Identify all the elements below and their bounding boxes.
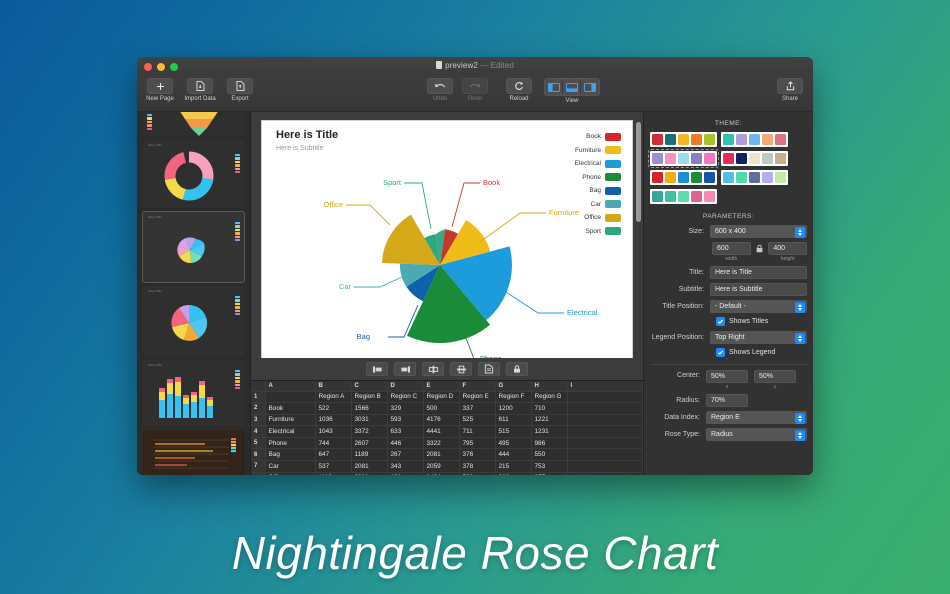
export-button[interactable]: Export [225, 78, 255, 102]
cell[interactable]: 598 [459, 472, 495, 475]
radius-input[interactable]: 70% [706, 394, 748, 407]
cell[interactable]: 525 [459, 414, 495, 426]
inspector-divider [650, 364, 807, 365]
center-x-caption: x [706, 384, 748, 390]
column-header-h[interactable]: H [531, 381, 567, 391]
cell[interactable]: 2059 [423, 461, 459, 473]
title-value: Here is Title [715, 269, 752, 276]
cell[interactable]: 1231 [531, 426, 567, 438]
legend-swatch [605, 173, 621, 181]
view-label: View [566, 98, 579, 104]
row-number[interactable]: 7 [251, 461, 265, 473]
column-header-e[interactable]: E [423, 381, 459, 391]
legend-swatch [605, 133, 621, 141]
editor-center: Here is Title Here is Subtitle [251, 112, 643, 475]
show-bottom-panel-icon[interactable] [563, 79, 581, 95]
canvas-area: Here is Title Here is Subtitle [251, 112, 643, 358]
column-header-b[interactable]: B [315, 381, 351, 391]
cell[interactable]: Region C [387, 391, 423, 403]
column-header-a[interactable]: A [265, 381, 315, 391]
shows-titles-label: Shows Titles [729, 318, 768, 325]
cell[interactable]: 711 [459, 426, 495, 438]
cell[interactable]: 710 [531, 403, 567, 415]
table-row[interactable]: 4 Electrical 1043 3372 633 4441 711 515 … [251, 426, 643, 438]
legend-label: Phone [582, 174, 601, 181]
chevron-updown-icon[interactable] [795, 413, 805, 424]
cell[interactable]: Furniture [265, 414, 315, 426]
canvas-scrollbar[interactable] [636, 122, 641, 222]
height-group: 400 height [768, 242, 807, 262]
label-phone: Phone [480, 354, 502, 358]
legend-item-office[interactable]: Office [575, 211, 621, 225]
cell[interactable]: 611 [495, 414, 531, 426]
title-position-select[interactable]: - Default - [710, 300, 807, 313]
export-document-icon [227, 78, 253, 94]
toolbar-view-group: Reload View [504, 78, 605, 104]
table-row[interactable]: 8 Office 1113 3031 422 3494 598 269 857 [251, 472, 643, 475]
subtitle-input[interactable]: Here is Subtitle [710, 283, 807, 296]
lock-icon[interactable] [506, 362, 528, 376]
column-header-d[interactable]: D [387, 381, 423, 391]
import-data-label: Import Data [184, 96, 215, 102]
cell[interactable]: 444 [495, 449, 531, 461]
cell[interactable]: 1189 [351, 449, 387, 461]
data-table[interactable]: A B C D E F G H I 1 [251, 381, 643, 475]
column-header-c[interactable]: C [351, 381, 387, 391]
rose-type-row: Rose Type: Radius [650, 428, 807, 441]
thumb-legend [235, 370, 240, 389]
legend-label: Office [584, 214, 601, 221]
row-number[interactable]: 1 [251, 391, 265, 403]
title-row: Title: Here is Title [650, 266, 807, 279]
view-segments[interactable] [544, 78, 600, 96]
page-thumbnail-bar[interactable]: Here is Title [143, 360, 244, 426]
center-y-input[interactable]: 50% [754, 370, 796, 383]
legend-swatch [605, 214, 621, 222]
page-thumbnail-pie[interactable]: Here is Title [143, 286, 244, 356]
theme-palette-3[interactable] [721, 151, 788, 166]
chart-title: Here is Title [276, 129, 338, 141]
cell[interactable]: Phone [265, 437, 315, 449]
cell[interactable]: Bag [265, 449, 315, 461]
thumb-title: Here is Title [148, 290, 162, 293]
cell[interactable]: 495 [495, 437, 531, 449]
width-input[interactable]: 600 [712, 242, 751, 255]
legend-position-value: Top Right [715, 334, 745, 341]
cell[interactable] [567, 426, 643, 438]
height-value: 400 [773, 245, 785, 252]
shows-legend-row[interactable]: Shows Legend [650, 348, 807, 357]
theme-palette-5[interactable] [721, 170, 788, 185]
undo-icon [427, 78, 453, 94]
subtitle-value: Here is Subtitle [715, 286, 762, 293]
window-body: Here is Title Here is Title [137, 112, 813, 475]
size-dimensions-row: 600 width 400 height [650, 242, 807, 262]
label-bag: Bag [357, 332, 370, 341]
cell[interactable]: 422 [387, 472, 423, 475]
cell[interactable]: Car [265, 461, 315, 473]
cell[interactable] [567, 403, 643, 415]
redo-button[interactable]: Redo [460, 78, 490, 102]
theme-palette-2[interactable] [650, 151, 717, 166]
width-caption: width [712, 256, 751, 262]
title-position-row: Title Position: - Default - [650, 300, 807, 313]
column-header-g[interactable]: G [495, 381, 531, 391]
reload-label: Reload [509, 96, 528, 102]
shows-legend-checkbox[interactable] [716, 348, 725, 357]
thumb-title: Here is Title [148, 364, 162, 367]
legend-item-furniture[interactable]: Furniture [575, 144, 621, 158]
cell[interactable]: 337 [459, 403, 495, 415]
share-icon [777, 78, 803, 94]
redo-icon [462, 78, 488, 94]
data-index-select[interactable]: Region E [706, 411, 807, 424]
document-name: preview2 [445, 61, 478, 70]
shows-titles-checkbox[interactable] [716, 317, 725, 326]
redo-label: Redo [468, 96, 482, 102]
center-row: Center: 50% x 50% y [650, 370, 807, 390]
center-y-value: 50% [759, 373, 773, 380]
cell[interactable]: 1036 [315, 414, 351, 426]
cell[interactable]: 446 [387, 437, 423, 449]
undo-button[interactable]: Undo [425, 78, 455, 102]
legend-label: Sport [585, 228, 601, 235]
align-left-icon[interactable] [366, 362, 388, 376]
legend-swatch [605, 200, 621, 208]
rose-type-select[interactable]: Radius [706, 428, 807, 441]
sheet-corner[interactable] [251, 381, 265, 391]
row-number[interactable]: 3 [251, 414, 265, 426]
table-row[interactable]: 7 Car 537 2081 343 2059 378 215 753 [251, 461, 643, 473]
cell[interactable]: 633 [387, 426, 423, 438]
plus-icon [147, 78, 173, 94]
align-middle-icon[interactable] [450, 362, 472, 376]
cell[interactable]: 515 [495, 426, 531, 438]
page-icon[interactable] [478, 362, 500, 376]
import-data-button[interactable]: Import Data [180, 78, 220, 102]
page-thumbnail-rose[interactable]: Here is Title [143, 212, 244, 282]
legend-item-book[interactable]: Book [575, 130, 621, 144]
cell[interactable]: Region B [351, 391, 387, 403]
cell[interactable]: 4176 [423, 414, 459, 426]
legend-swatch [605, 146, 621, 154]
cell[interactable]: 378 [459, 461, 495, 473]
cell[interactable]: Region E [459, 391, 495, 403]
row-number[interactable]: 6 [251, 449, 265, 461]
height-input[interactable]: 400 [768, 242, 807, 255]
legend-swatch [605, 160, 621, 168]
thumb-legend [235, 296, 240, 315]
nightingale-rose-chart[interactable]: Book Furniture Electrical Phone Bag Car … [284, 147, 614, 358]
legend-item-sport[interactable]: Sport [575, 225, 621, 239]
title-position-label: Title Position: [650, 303, 710, 310]
legend-swatch [605, 227, 621, 235]
aspect-lock-icon[interactable] [755, 242, 765, 255]
legend-label: Bag [589, 187, 601, 194]
page-thumbnail-lines[interactable] [143, 430, 244, 475]
chevron-updown-icon[interactable] [795, 302, 805, 313]
view-segmented-control[interactable]: View [539, 78, 605, 104]
table-header-row: A B C D E F G H I [251, 381, 643, 391]
rose-type-value: Radius [711, 431, 733, 438]
document-title: preview2 — Edited [137, 61, 813, 70]
cell[interactable]: 500 [423, 403, 459, 415]
subtitle-row: Subtitle: Here is Subtitle [650, 283, 807, 296]
cell[interactable]: 522 [315, 403, 351, 415]
show-right-panel-icon[interactable] [581, 79, 599, 95]
main-toolbar: New Page Import Data Export Un [137, 76, 813, 112]
cell[interactable]: 1200 [495, 403, 531, 415]
data-index-row: Data Index: Region E [650, 411, 807, 424]
theme-palette-6[interactable] [650, 189, 717, 204]
theme-palette-1[interactable] [721, 132, 788, 147]
subtitle-label: Subtitle: [650, 286, 710, 293]
row-number[interactable]: 4 [251, 426, 265, 438]
inspector-panel: THEME: [643, 112, 813, 475]
cell[interactable]: Region G [531, 391, 567, 403]
cell[interactable] [567, 461, 643, 473]
legend-label: Furniture [575, 147, 601, 154]
legend-label: Electrical [575, 160, 601, 167]
radius-row: Radius: 70% [650, 394, 807, 407]
cell[interactable]: 3322 [423, 437, 459, 449]
cell[interactable]: 647 [315, 449, 351, 461]
align-right-icon[interactable] [394, 362, 416, 376]
column-header-i[interactable]: I [567, 381, 643, 391]
cell[interactable]: 3372 [351, 426, 387, 438]
title-position-value: - Default - [715, 303, 746, 310]
legend-label: Car [591, 201, 601, 208]
import-document-icon [187, 78, 213, 94]
table-row[interactable]: 3 Furniture 1036 3031 593 4176 525 611 1… [251, 414, 643, 426]
cell[interactable] [567, 449, 643, 461]
cell[interactable]: 215 [495, 461, 531, 473]
cell[interactable]: 4441 [423, 426, 459, 438]
cell[interactable]: 1221 [531, 414, 567, 426]
cell[interactable]: 857 [531, 472, 567, 475]
theme-palette-grid[interactable] [650, 132, 807, 204]
reload-icon [506, 78, 532, 94]
table-row[interactable]: 2 Book 522 1566 329 500 337 1200 710 [251, 403, 643, 415]
legend-item-car[interactable]: Car [575, 198, 621, 212]
legend-swatch [605, 187, 621, 195]
shows-legend-label: Shows Legend [729, 349, 775, 356]
new-page-label: New Page [146, 96, 174, 102]
page-thumbnail-funnel[interactable] [143, 112, 244, 136]
label-car: Car [339, 282, 352, 291]
page-thumbnail-donut[interactable]: Here is Title [143, 140, 244, 208]
rose-type-label: Rose Type: [650, 431, 706, 438]
cell[interactable]: 3031 [351, 472, 387, 475]
legend-position-row: Legend Position: Top Right [650, 331, 807, 344]
document-icon [436, 61, 442, 69]
cell[interactable]: 376 [459, 449, 495, 461]
share-button[interactable]: Share [775, 78, 805, 102]
radius-value: 70% [711, 397, 725, 404]
show-left-panel-icon[interactable] [545, 79, 563, 95]
cell[interactable]: Region D [423, 391, 459, 403]
thumb-legend [147, 114, 152, 130]
cell[interactable]: 1113 [315, 472, 351, 475]
window-titlebar[interactable]: preview2 — Edited [137, 57, 813, 76]
cell[interactable] [567, 414, 643, 426]
column-header-f[interactable]: F [459, 381, 495, 391]
toolbar-center-group: Undo Redo [425, 78, 490, 102]
theme-palette-0[interactable] [650, 132, 717, 147]
cell[interactable]: 343 [387, 461, 423, 473]
cell[interactable]: 2081 [351, 461, 387, 473]
legend-item-phone[interactable]: Phone [575, 171, 621, 185]
theme-section-label: THEME: [650, 120, 807, 127]
cell[interactable]: 744 [315, 437, 351, 449]
cell[interactable]: Region A [315, 391, 351, 403]
chevron-updown-icon[interactable] [795, 227, 805, 238]
document-edited-state: — Edited [480, 61, 514, 70]
cell[interactable] [567, 391, 643, 403]
cell[interactable]: 3494 [423, 472, 459, 475]
size-row: Size: 600 x 400 [650, 225, 807, 238]
cell[interactable]: Electrical [265, 426, 315, 438]
title-input[interactable]: Here is Title [710, 266, 807, 279]
cell[interactable]: 267 [387, 449, 423, 461]
table-row[interactable]: 1 Region A Region B Region C Region D Re… [251, 391, 643, 403]
undo-label: Undo [433, 96, 447, 102]
table-row[interactable]: 6 Bag 647 1189 267 2081 376 444 550 [251, 449, 643, 461]
app-window: preview2 — Edited New Page Import Data [137, 57, 813, 475]
table-row[interactable]: 5 Phone 744 2607 446 3322 795 495 986 [251, 437, 643, 449]
label-office: Office [324, 200, 343, 209]
new-page-button[interactable]: New Page [145, 78, 175, 102]
cell[interactable] [265, 391, 315, 403]
cell[interactable]: 1043 [315, 426, 351, 438]
thumb-legend [235, 154, 240, 173]
cell[interactable]: Book [265, 403, 315, 415]
center-y-group: 50% y [754, 370, 796, 390]
export-label: Export [231, 96, 248, 102]
chevron-updown-icon[interactable] [795, 333, 805, 344]
row-number[interactable]: 5 [251, 437, 265, 449]
table-body: 1 Region A Region B Region C Region D Re… [251, 391, 643, 475]
chart-legend[interactable]: Book Furniture Electrical Phone Bag Car … [575, 130, 621, 238]
cell[interactable]: Office [265, 472, 315, 475]
toolbar-left-group: New Page Import Data Export [145, 78, 255, 102]
size-label: Size: [650, 228, 710, 235]
center-x-input[interactable]: 50% [706, 370, 748, 383]
cell[interactable]: 537 [315, 461, 351, 473]
row-number[interactable]: 8 [251, 472, 265, 475]
cell[interactable] [567, 472, 643, 475]
radius-label: Radius: [650, 397, 706, 404]
cell[interactable]: 986 [531, 437, 567, 449]
thumb-legend [235, 222, 240, 241]
cell[interactable]: 1566 [351, 403, 387, 415]
cell[interactable]: 795 [459, 437, 495, 449]
pages-sidebar[interactable]: Here is Title Here is Title [137, 112, 251, 475]
title-label: Title: [650, 269, 710, 276]
reload-button[interactable]: Reload [504, 78, 534, 104]
cell[interactable]: 2081 [423, 449, 459, 461]
cell[interactable]: 3031 [351, 414, 387, 426]
chevron-updown-icon[interactable] [795, 430, 805, 441]
label-electrical: Electrical [567, 308, 598, 317]
promo-banner-text: Nightingale Rose Chart [0, 526, 950, 580]
label-book: Book [483, 178, 500, 187]
legend-item-electrical[interactable]: Electrical [575, 157, 621, 171]
width-value: 600 [717, 245, 729, 252]
legend-position-label: Legend Position: [650, 334, 710, 341]
parameters-section-label: PARAMETERS: [650, 213, 807, 220]
cell[interactable]: 550 [531, 449, 567, 461]
cell[interactable]: 2607 [351, 437, 387, 449]
cell[interactable]: 269 [495, 472, 531, 475]
label-sport: Sport [383, 178, 402, 187]
size-select[interactable]: 600 x 400 [710, 225, 807, 238]
chart-toolbar [251, 358, 643, 380]
legend-label: Book [586, 133, 601, 140]
center-label: Center: [650, 370, 706, 379]
chart-canvas[interactable]: Here is Title Here is Subtitle [261, 120, 633, 358]
cell[interactable]: Region F [495, 391, 531, 403]
cell[interactable]: 753 [531, 461, 567, 473]
cell[interactable] [567, 437, 643, 449]
data-sheet[interactable]: A B C D E F G H I 1 [251, 380, 643, 475]
height-caption: height [768, 256, 807, 262]
center-x-value: 50% [711, 373, 725, 380]
align-center-icon[interactable] [422, 362, 444, 376]
center-x-group: 50% x [706, 370, 748, 390]
data-index-label: Data Index: [650, 414, 706, 421]
cell[interactable]: 329 [387, 403, 423, 415]
legend-item-bag[interactable]: Bag [575, 184, 621, 198]
theme-palette-4[interactable] [650, 170, 717, 185]
data-index-value: Region E [711, 414, 740, 421]
center-y-caption: y [754, 384, 796, 390]
cell[interactable]: 593 [387, 414, 423, 426]
shows-titles-row[interactable]: Shows Titles [650, 317, 807, 326]
row-number[interactable]: 2 [251, 403, 265, 415]
share-label: Share [782, 96, 798, 102]
legend-position-select[interactable]: Top Right [710, 331, 807, 344]
thumb-title: Here is Title [148, 216, 162, 219]
width-group: 600 width [712, 242, 751, 262]
thumb-title: Here is Title [148, 144, 162, 147]
size-value: 600 x 400 [715, 228, 746, 235]
